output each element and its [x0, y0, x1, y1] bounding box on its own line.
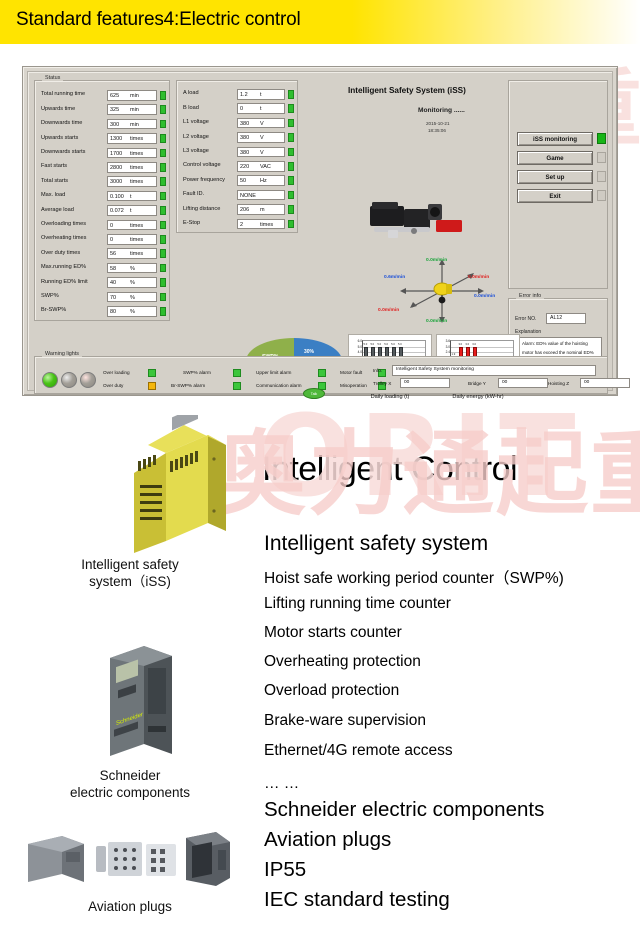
measure-row-led [288, 133, 294, 142]
hoist-illustration [366, 200, 486, 262]
measure-row-value[interactable]: 206m [237, 204, 285, 215]
warning-lamp [80, 372, 96, 388]
axis-label: Trolley X [373, 381, 391, 386]
hmi-time: 18:35:06 [428, 128, 446, 133]
measure-row-value[interactable]: 1.2t [237, 89, 285, 100]
error-info-group-label: Error info [516, 293, 544, 299]
warning-item-led [318, 369, 326, 377]
measure-row-led [288, 205, 294, 214]
info-value-field[interactable]: Intelligent Safety System monitoring [392, 365, 596, 376]
product-caption-iss: Intelligent safety system（iSS) [20, 556, 240, 590]
measure-row: L3 voltage380V [183, 147, 292, 159]
status-row-led [160, 134, 166, 143]
measure-row: L1 voltage380V [183, 118, 292, 130]
status-row: Running ED% limit40% [41, 277, 164, 289]
status-row-value[interactable]: 1300times [107, 133, 157, 144]
content-title: Intelligent Control [262, 450, 517, 489]
status-row-led [160, 206, 166, 215]
status-row: Fast starts2800times [41, 162, 164, 174]
feature-bullet: Overload protection [264, 682, 399, 700]
pie-slice-label-blue: 30% [304, 349, 314, 355]
measure-row: E-Stop2times [183, 219, 292, 231]
hmi-button-game[interactable]: Game [517, 151, 593, 165]
header-banner: Standard features4:Electric control [0, 0, 640, 44]
status-row: Downwards time300min [41, 119, 164, 131]
aviation-plugs-image [22, 826, 237, 896]
status-row: Total starts3000times [41, 176, 164, 188]
hmi-screenshot-panel: Status Total running time625minUpwards t… [22, 66, 618, 396]
status-row-led [160, 105, 166, 114]
status-row-label: Downwards starts [41, 149, 85, 155]
warning-item-label: Over loading [103, 370, 130, 375]
status-row-unit: % [130, 307, 135, 317]
chart-data-label: 3.0 [472, 343, 476, 346]
info-label: Info. [373, 368, 382, 373]
daily-energy-caption: Daily energy (kW-hr) [436, 394, 520, 400]
status-row-label: Total running time [41, 91, 85, 97]
measure-row-led [288, 220, 294, 229]
status-row-led [160, 149, 166, 158]
product-caption-schneider-line1: Schneider [100, 768, 161, 783]
status-row-unit: times [130, 177, 143, 187]
warning-item-label: Br-SWP% alarm [171, 383, 205, 388]
chart-data-label: 5.0 [377, 343, 381, 346]
status-row-led [160, 249, 166, 258]
measure-row-value[interactable]: 380V [237, 147, 285, 158]
chart-y-tick: 6.0 [358, 340, 362, 343]
status-row-unit: % [130, 264, 135, 274]
warning-item-led [148, 369, 156, 377]
measure-row-label: L2 voltage [183, 134, 209, 140]
status-row: Max. load0.100t [41, 191, 164, 203]
warning-item-led [233, 382, 241, 390]
talk-button[interactable]: Talk [303, 388, 325, 399]
status-row: Overloading times0times [41, 220, 164, 232]
status-row-value[interactable]: 70% [107, 292, 157, 303]
status-row-label: Overloading times [41, 221, 86, 227]
status-row-value[interactable]: 2800times [107, 162, 157, 173]
status-row-label: Upwards starts [41, 135, 78, 141]
measure-row-label: Power frequency [183, 177, 225, 183]
chart-y-tick: 2.4 [446, 351, 450, 354]
status-row: Average load0.072t [41, 205, 164, 217]
status-row-value[interactable]: 56times [107, 248, 157, 259]
hmi-button-led [597, 190, 606, 201]
measure-row-led [288, 104, 294, 113]
button-panel-group [508, 80, 608, 289]
measure-row-unit: m [260, 205, 265, 215]
status-row-value[interactable]: 0.100t [107, 191, 157, 202]
status-row-label: Overheating times [41, 235, 86, 241]
content-section-heading: Intelligent safety system [264, 532, 488, 556]
error-no-label: Error NO. [515, 316, 536, 322]
status-row-label: Br-SWP% [41, 307, 66, 313]
feature-bullet: Lifting running time counter [264, 595, 451, 613]
measure-row-value[interactable]: 380V [237, 132, 285, 143]
measure-row: Fault ID.NONE [183, 190, 292, 202]
status-row-led [160, 120, 166, 129]
warning-lamp [42, 372, 58, 388]
product-caption-aviation-line1: Aviation plugs [88, 899, 172, 914]
status-row-label: Downwards time [41, 120, 82, 126]
measure-row-label: E-Stop [183, 220, 200, 226]
chart-data-label: 3.0 [458, 343, 462, 346]
hmi-button-exit[interactable]: Exit [517, 189, 593, 203]
warning-item-led [148, 382, 156, 390]
status-row-led [160, 192, 166, 201]
warning-lights-group-label: Warning lights [42, 351, 82, 357]
measure-row-label: A load [183, 90, 199, 96]
warning-lamp [61, 372, 77, 388]
status-row: Over duty times56times [41, 248, 164, 260]
status-row-unit: times [130, 221, 143, 231]
warning-item-label: Over duty [103, 383, 123, 388]
status-row-unit: min [130, 120, 139, 130]
chart-data-label: 5.0 [384, 343, 388, 346]
measure-row: Control voltage220VAC [183, 161, 292, 173]
status-row-unit: t [130, 192, 132, 202]
feature-bullet: Overheating protection [264, 653, 421, 671]
measure-row-unit: V [260, 148, 264, 158]
status-row: SWP%70% [41, 292, 164, 304]
status-row: Downwards starts1700times [41, 148, 164, 160]
measure-row-unit: V [260, 119, 264, 129]
hmi-inner-frame: Status Total running time625minUpwards t… [27, 71, 613, 391]
warning-item-label: Motor fault [340, 370, 362, 375]
status-row-value[interactable]: 0times [107, 234, 157, 245]
status-row-label: SWP% [41, 293, 59, 299]
measurement-group: A load1.2tB load0tL1 voltage380VL2 volta… [176, 80, 298, 233]
product-caption-schneider-line2: electric components [70, 785, 190, 800]
measure-row-led [288, 191, 294, 200]
measure-row: Lifting distance206m [183, 204, 292, 216]
page-title: Standard features4:Electric control [16, 9, 301, 31]
status-group: Status Total running time625minUpwards t… [34, 80, 170, 321]
chart-y-tick: 3.6 [446, 340, 450, 343]
status-row: Total running time625min [41, 90, 164, 102]
status-row-label: Over duty times [41, 250, 80, 256]
status-row-value[interactable]: 40% [107, 277, 157, 288]
product-caption-aviation: Aviation plugs [20, 898, 240, 915]
product-caption-schneider: Schneider electric components [20, 767, 240, 801]
status-row-value[interactable]: 625min [107, 90, 157, 101]
status-row: Upwards starts1300times [41, 133, 164, 145]
measure-row-label: Lifting distance [183, 206, 220, 212]
measure-row-led [288, 148, 294, 157]
measure-row: B load0t [183, 103, 292, 115]
chart-data-label: 5.0 [364, 343, 368, 346]
hmi-button-iss-monitoring[interactable]: iSS monitoring [517, 132, 593, 146]
hmi-button-set-up[interactable]: Set up [517, 170, 593, 184]
feature-bullet: … … [264, 775, 299, 793]
measure-row-unit: VAC [260, 162, 271, 172]
measure-row-led [288, 119, 294, 128]
status-row-value[interactable]: 325min [107, 104, 157, 115]
status-row-led [160, 293, 166, 302]
measure-row-unit: t [260, 104, 262, 114]
measure-row-value[interactable]: 0t [237, 103, 285, 114]
status-row-value[interactable]: 58% [107, 263, 157, 274]
measure-row-label: Fault ID. [183, 191, 204, 197]
feature-bullet: Hoist safe working period counter（SWP%) [264, 566, 564, 588]
daily-loading-caption: Daily loading (t) [348, 394, 432, 400]
measure-row-label: B load [183, 105, 199, 111]
status-row-label: Max. load [41, 192, 65, 198]
chart-y-tick: 5.0 [358, 346, 362, 349]
warning-item-label: Upper limit alarm [256, 370, 291, 375]
status-row-label: Max.running ED% [41, 264, 86, 270]
status-row-unit: t [130, 206, 132, 216]
axis-label: Hoisting Z [548, 381, 569, 386]
speed-readout: 0.0m/min [426, 258, 447, 263]
measure-row-value[interactable]: NONE [237, 190, 285, 201]
measure-row-value[interactable]: 380V [237, 118, 285, 129]
status-row-led [160, 307, 166, 316]
status-row-unit: min [130, 105, 139, 115]
feature-bullet: Brake-ware supervision [264, 712, 426, 730]
status-group-label: Status [42, 75, 63, 81]
axis-value-field[interactable]: 00 [400, 378, 450, 388]
error-no-value: AL12 [546, 313, 586, 324]
status-row-led [160, 264, 166, 273]
status-row-label: Upwards time [41, 106, 75, 112]
status-row-value[interactable]: 80% [107, 306, 157, 317]
speed-readout: 0.0m/min [474, 294, 495, 299]
status-row-unit: times [130, 149, 143, 159]
measure-row-unit: Hz [260, 176, 267, 186]
status-row-label: Average load [41, 207, 74, 213]
product-caption-iss-line1: Intelligent safety [81, 557, 179, 572]
measure-row-led [288, 176, 294, 185]
measure-row-unit: V [260, 133, 264, 143]
measure-row-led [288, 162, 294, 171]
status-row-value[interactable]: 3000times [107, 176, 157, 187]
warning-item-label: SWP% alarm [183, 370, 211, 375]
hmi-date: 2015-10-21 [426, 121, 450, 126]
speed-readout: 0.0m/min [426, 319, 447, 324]
measure-row-value[interactable]: 50Hz [237, 175, 285, 186]
measure-row: A load1.2t [183, 89, 292, 101]
status-row-unit: times [130, 249, 143, 259]
status-row-label: Running ED% limit [41, 279, 88, 285]
hmi-button-led [597, 152, 606, 163]
status-row-value[interactable]: 300min [107, 119, 157, 130]
feature-bullet: Ethernet/4G remote access [264, 742, 453, 760]
status-row-label: Total starts [41, 178, 68, 184]
status-row-label: Fast starts [41, 163, 67, 169]
chart-data-label: 5.0 [370, 343, 374, 346]
chart-y-tick: 4.0 [358, 351, 362, 354]
product-caption-iss-line2: system（iSS) [89, 574, 171, 589]
measure-row-value[interactable]: 2times [237, 219, 285, 230]
status-row-led [160, 221, 166, 230]
crane-axis-diagram [368, 255, 518, 327]
status-row-unit: times [130, 163, 143, 173]
status-row-unit: min [130, 91, 139, 101]
measure-row-label: L3 voltage [183, 148, 209, 154]
chart-data-label: 5.0 [398, 343, 402, 346]
chart-data-label: 5.0 [391, 343, 395, 346]
status-row-value[interactable]: 1700times [107, 148, 157, 159]
iss-title: Intelligent Safety System (iSS) [348, 86, 466, 95]
speed-readout: 0.0m/min [378, 308, 399, 313]
measure-row-value[interactable]: 220VAC [237, 161, 285, 172]
status-row-led [160, 177, 166, 186]
footer-line: IP55 [264, 858, 306, 882]
schneider-drive-image: Schneider [96, 640, 186, 760]
axis-value-field[interactable]: 00 [580, 378, 630, 388]
status-row-led [160, 235, 166, 244]
measure-row: Power frequency50Hz [183, 175, 292, 187]
status-row-unit: times [130, 235, 143, 245]
feature-bullet: Motor starts counter [264, 624, 402, 642]
status-row-value[interactable]: 0times [107, 220, 157, 231]
axis-label: Bridge Y [468, 381, 486, 386]
warning-item-label: Misoperation [340, 383, 367, 388]
speed-readout: 0.6m/min [384, 275, 405, 280]
measure-row-label: L1 voltage [183, 119, 209, 125]
chart-data-label: 3.0 [465, 343, 469, 346]
status-row: Br-SWP%80% [41, 306, 164, 318]
measure-row-label: Control voltage [183, 162, 221, 168]
status-row-led [160, 163, 166, 172]
measure-row: L2 voltage380V [183, 132, 292, 144]
axis-value-field[interactable]: 00 [498, 378, 548, 388]
footer-line: Schneider electric components [264, 798, 544, 822]
footer-line: Aviation plugs [264, 828, 391, 852]
speed-readout: 0.0m/min [468, 275, 489, 280]
footer-line: IEC standard testing [264, 888, 450, 912]
status-row-led [160, 91, 166, 100]
monitoring-status-text: Monitoring ...... [418, 107, 465, 114]
measure-row-unit: t [260, 90, 262, 100]
status-row: Upwards time325min [41, 104, 164, 116]
status-row-unit: times [130, 134, 143, 144]
status-row: Overheating times0times [41, 234, 164, 246]
status-row-value[interactable]: 0.072t [107, 205, 157, 216]
status-row-unit: % [130, 278, 135, 288]
measure-row-led [288, 90, 294, 99]
warning-item-label: Communication alarm [256, 383, 302, 388]
iss-module-image [110, 415, 250, 555]
status-row-unit: % [130, 293, 135, 303]
hmi-button-led [597, 171, 606, 182]
warning-item-led [233, 369, 241, 377]
measure-row-unit: times [260, 220, 273, 230]
status-row-led [160, 278, 166, 287]
chart-y-tick: 3.0 [446, 346, 450, 349]
status-row: Max.running ED%58% [41, 263, 164, 275]
hmi-button-led [597, 133, 606, 144]
